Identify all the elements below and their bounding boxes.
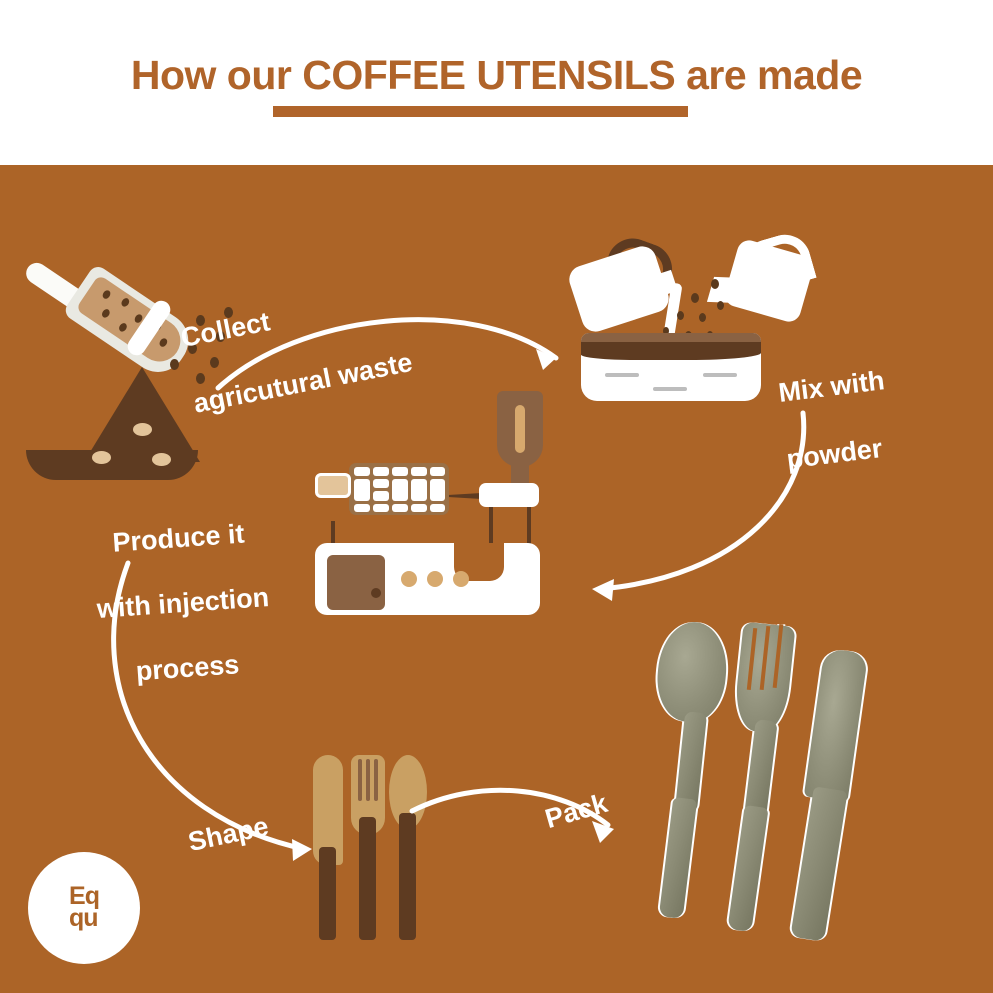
step-label-produce-line3: process <box>82 645 294 692</box>
step-label-shape-line1: Shape <box>186 811 272 858</box>
injection-machine-illustration <box>313 435 548 650</box>
step-label-pack-line1: Pack <box>542 788 611 835</box>
title-underline <box>273 106 688 117</box>
page-title-emphasis: COFFEE UTENSILS <box>302 52 675 98</box>
page-title-prefix: How our <box>131 52 302 98</box>
machine-display-icon <box>315 473 351 498</box>
step-label-collect-line2: agricutural waste <box>191 333 482 421</box>
title-bar: How our COFFEE UTENSILS are made <box>0 0 993 165</box>
mold-paddle-stripe <box>515 405 525 453</box>
equo-logo-line-1: Eq <box>69 885 99 908</box>
step-label-mix-line2: powder <box>785 418 993 477</box>
step-label-shape: Shape <box>179 781 278 890</box>
step-label-mix: Mix with powder <box>772 318 993 511</box>
knife-handle-icon <box>319 847 336 940</box>
step-label-produce: Produce it with injection process <box>70 483 295 724</box>
step-label-produce-line1: Produce it <box>73 515 285 562</box>
machine-indicator-1 <box>401 571 417 587</box>
mixing-trough-icon <box>581 333 761 401</box>
machine-door-icon <box>327 555 385 610</box>
step-label-pack: Pack <box>533 758 620 866</box>
fork-handle-icon <box>359 817 376 940</box>
page-title: How our COFFEE UTENSILS are made <box>0 52 993 99</box>
machine-head-icon <box>479 483 539 507</box>
machine-indicator-2 <box>427 571 443 587</box>
photo-fork <box>718 620 798 940</box>
process-panel: Collect agricutural waste <box>0 165 993 993</box>
step-label-produce-line2: with injection <box>77 580 289 627</box>
equo-logo-mark: Eq nb <box>28 852 140 964</box>
machine-indicator-3 <box>453 571 469 587</box>
finished-cutlery-photo <box>640 620 890 950</box>
photo-spoon <box>640 620 730 930</box>
spoon-handle-icon <box>399 813 416 940</box>
trough-contents <box>581 342 761 360</box>
machine-control-panel <box>349 463 449 515</box>
grounds-pile-base-icon <box>26 450 198 480</box>
arrowhead-mix-to-produce <box>592 579 614 601</box>
flat-cutlery-illustration <box>313 755 423 940</box>
machine-knob-icon <box>371 588 381 598</box>
equo-logo-line-2: nb <box>70 908 99 931</box>
infographic-page: How our COFFEE UTENSILS are made <box>0 0 993 993</box>
page-title-suffix: are made <box>675 52 862 98</box>
arrowhead-produce-to-shape <box>292 839 312 861</box>
arrowhead-collect-to-mix <box>536 349 556 370</box>
step-label-mix-line1: Mix with <box>777 351 990 410</box>
grounds-pile-icon <box>84 367 200 462</box>
equo-logo[interactable]: Eq nb <box>28 852 140 964</box>
photo-knife <box>790 650 880 950</box>
